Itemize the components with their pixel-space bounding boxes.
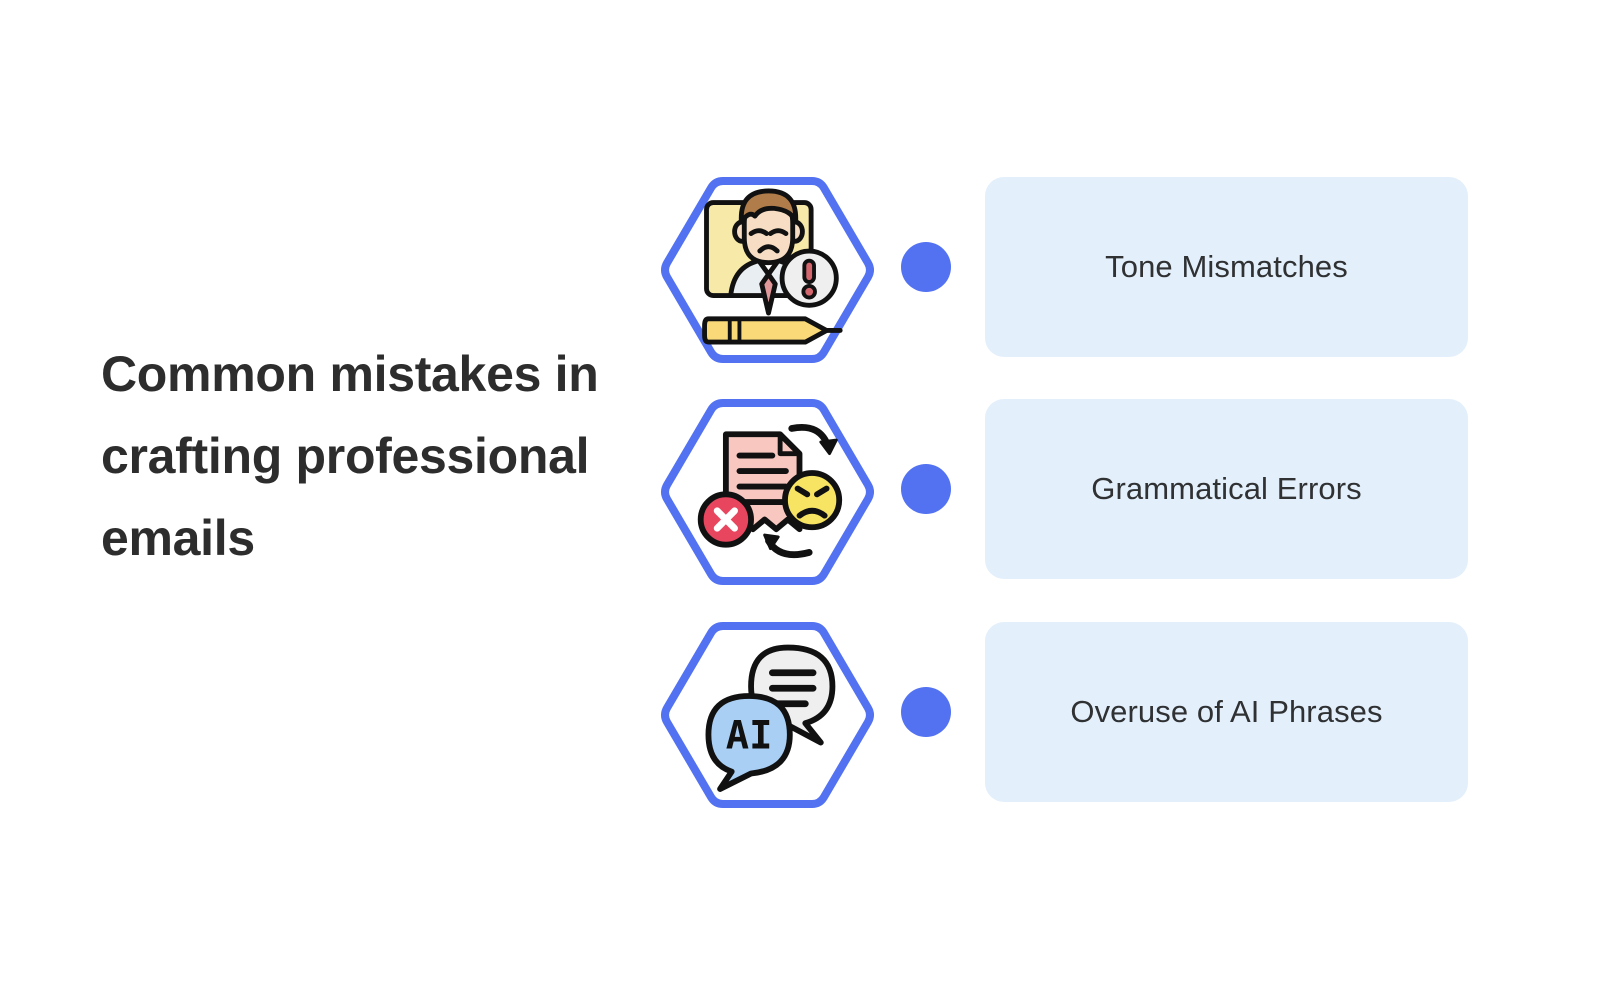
page-title: Common mistakes in crafting professional… [101, 333, 661, 579]
label-card-ai-phrases[interactable]: Overuse of AI Phrases [985, 622, 1468, 802]
connector-dot [901, 687, 951, 737]
connector-dot [901, 464, 951, 514]
list-item: Tone Mismatches [660, 167, 1490, 367]
card-label: Tone Mismatches [1105, 249, 1348, 285]
ai-chat-bubbles-icon: AI [691, 622, 846, 802]
label-card-tone-mismatches[interactable]: Tone Mismatches [985, 177, 1468, 357]
connector-dot [901, 242, 951, 292]
hexagon-badge-tone-mismatches[interactable] [660, 167, 875, 367]
label-card-grammatical-errors[interactable]: Grammatical Errors [985, 399, 1468, 579]
hexagon-badge-grammatical-errors[interactable] [660, 389, 875, 589]
title-block: Common mistakes in crafting professional… [101, 333, 661, 579]
document-error-angry-face-icon [691, 399, 846, 579]
list-item: AI Overuse of AI Phrases [660, 612, 1490, 812]
card-label: Grammatical Errors [1091, 471, 1362, 507]
hexagon-badge-ai-phrases[interactable]: AI [660, 612, 875, 812]
ai-bubble-text: AI [726, 713, 773, 758]
list-item: Grammatical Errors [660, 389, 1490, 589]
card-label: Overuse of AI Phrases [1070, 694, 1382, 730]
sad-businessman-warning-icon [691, 177, 846, 357]
